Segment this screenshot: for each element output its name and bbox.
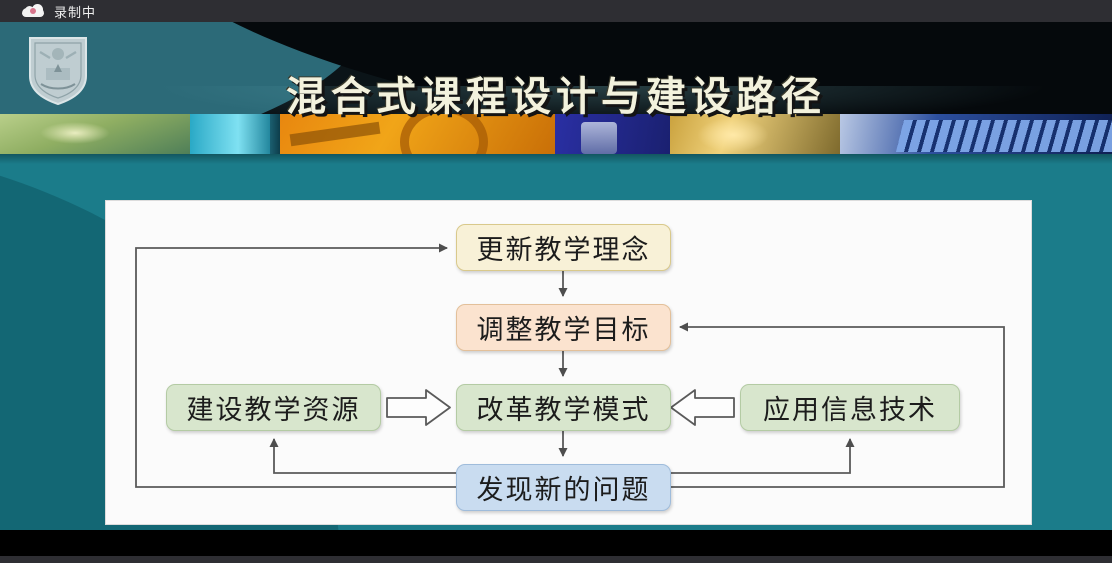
block-arrow-resources-to-model — [387, 390, 450, 425]
strip-shadow — [0, 154, 1112, 164]
slide-stage: 混合式课程设计与建设路径 — [0, 22, 1112, 530]
content-panel: 更新教学理念 调整教学目标 建设教学资源 改革教学模式 应用信息技术 发现新的问… — [105, 200, 1032, 525]
flow-node-label: 更新教学理念 — [477, 228, 651, 267]
recording-status-bar: 录制中 — [0, 0, 1112, 22]
flow-node-label: 改革教学模式 — [477, 388, 651, 427]
flow-node-update-teaching-philosophy[interactable]: 更新教学理念 — [456, 224, 671, 271]
page-title: 混合式课程设计与建设路径 — [0, 64, 1112, 122]
flow-node-label: 调整教学目标 — [477, 308, 651, 347]
recording-status-label: 录制中 — [54, 2, 96, 21]
flow-node-build-teaching-resources[interactable]: 建设教学资源 — [166, 384, 381, 431]
flow-node-label: 建设教学资源 — [187, 388, 361, 427]
flow-node-reform-teaching-model[interactable]: 改革教学模式 — [456, 384, 671, 431]
flow-node-adjust-teaching-objectives[interactable]: 调整教学目标 — [456, 304, 671, 351]
flow-node-discover-new-problems[interactable]: 发现新的问题 — [456, 464, 671, 511]
cloud-recording-icon — [22, 4, 44, 18]
bottom-letterbox — [0, 530, 1112, 556]
flow-node-label: 应用信息技术 — [763, 388, 937, 427]
block-arrow-technology-to-model — [671, 390, 734, 425]
flow-node-apply-information-technology[interactable]: 应用信息技术 — [740, 384, 960, 431]
bottom-taskbar-strip — [0, 556, 1112, 563]
flowchart-diagram: 更新教学理念 调整教学目标 建设教学资源 改革教学模式 应用信息技术 发现新的问… — [106, 201, 1031, 524]
flow-node-label: 发现新的问题 — [477, 468, 651, 507]
